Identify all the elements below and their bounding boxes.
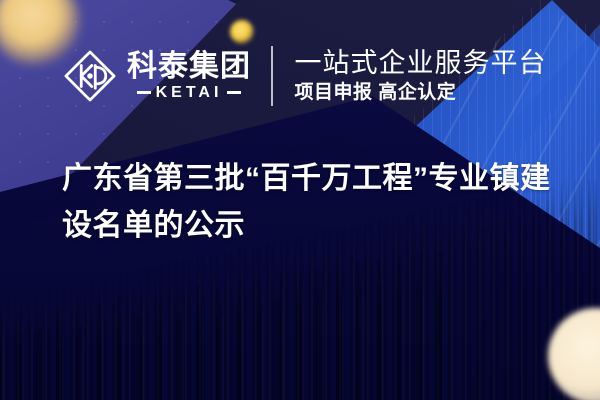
headline-title: 广东省第三批“百千万工程”专业镇建设名单的公示 xyxy=(62,156,562,249)
tagline: 一站式企业服务平台 项目申报 高企认定 xyxy=(295,48,547,104)
dash-left-icon xyxy=(137,91,151,94)
dash-right-icon xyxy=(227,91,241,94)
brand-name-cn: 科泰集团 xyxy=(127,51,251,82)
brand-wordmark: 科泰集团 KETAI xyxy=(127,51,251,100)
brand-name-en-row: KETAI xyxy=(137,85,242,101)
promo-banner: 科泰集团 KETAI 一站式企业服务平台 项目申报 高企认定 广东省第三批“百千… xyxy=(0,0,600,400)
ketai-diamond-monogram-icon xyxy=(62,48,118,104)
brand-name-en: KETAI xyxy=(156,85,223,101)
vertical-divider xyxy=(271,46,273,106)
tagline-sub: 项目申报 高企认定 xyxy=(295,82,547,103)
tagline-main: 一站式企业服务平台 xyxy=(295,48,547,78)
banner-content: 科泰集团 KETAI 一站式企业服务平台 项目申报 高企认定 广东省第三批“百千… xyxy=(0,0,600,400)
brand-header: 科泰集团 KETAI 一站式企业服务平台 项目申报 高企认定 xyxy=(62,40,547,112)
brand-logo: 科泰集团 KETAI xyxy=(62,48,251,104)
